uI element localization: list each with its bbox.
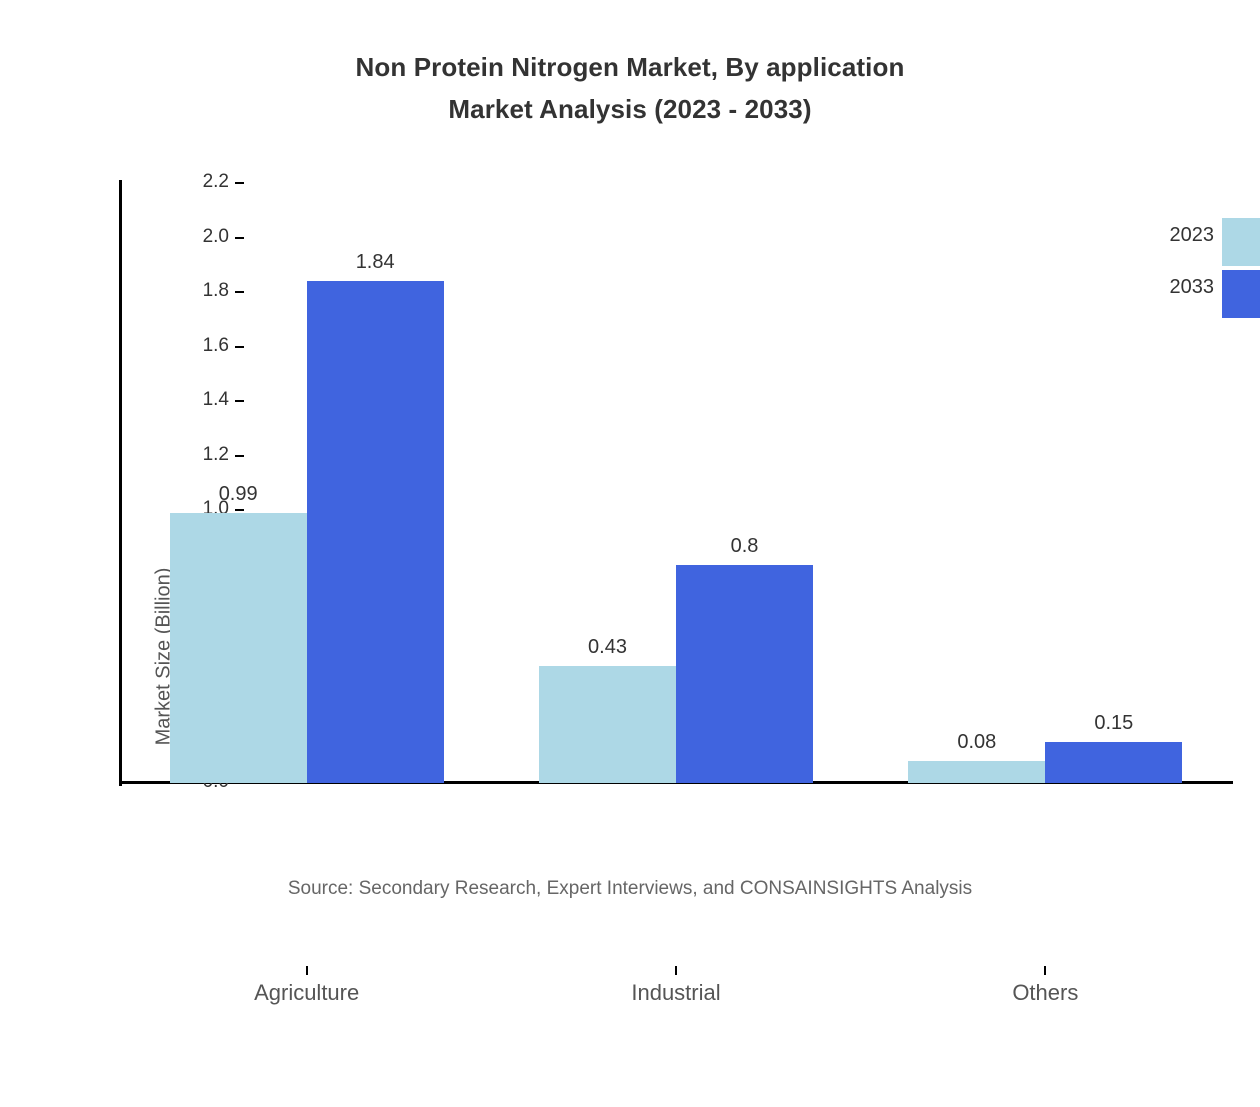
y-tick-label: 1.2 [203,444,229,466]
legend-label: 2033 [1100,276,1214,299]
legend-color-swatch [1222,218,1260,266]
y-tick-mark [235,455,244,457]
bar-industrial-2033[interactable]: 0.8 [676,565,813,783]
y-tick-mark [235,291,244,293]
bar-value-label: 0.08 [957,731,996,754]
y-tick-mark [235,509,244,511]
y-tick-mark [235,400,244,402]
bar-value-label: 0.8 [731,535,759,558]
bar-value-label: 1.84 [356,251,395,274]
y-tick-mark [235,237,244,239]
y-tick-label: 1.6 [203,335,229,357]
legend-item-2023[interactable]: 2023 [1100,218,1260,276]
bar-agriculture-2033[interactable]: 1.84 [307,281,444,783]
bar-value-label: 0.15 [1094,712,1133,735]
bar-others-2023[interactable]: 0.08 [908,761,1045,783]
y-tick-label: 1.8 [203,280,229,302]
bar-industrial-2023[interactable]: 0.43 [539,666,676,783]
x-tick-label: Agriculture [157,980,457,1006]
chart-title-line-2: Market Analysis (2023 - 2033) [0,88,1260,130]
x-tick-label: Industrial [526,980,826,1006]
bar-others-2033[interactable]: 0.15 [1045,742,1182,783]
bar-value-label: 0.99 [219,483,258,506]
legend-item-2033[interactable]: 2033 [1100,270,1260,328]
source-note: Source: Secondary Research, Expert Inter… [0,878,1260,900]
bar-chart-figure: Non Protein Nitrogen Market, By applicat… [0,0,1260,920]
y-tick-mark [235,346,244,348]
y-tick-label: 1.4 [203,389,229,411]
legend-label: 2023 [1100,224,1214,247]
bar-value-label: 0.43 [588,636,627,659]
y-tick-label: 2.2 [203,171,229,193]
y-tick-mark [235,182,244,184]
chart-title: Non Protein Nitrogen Market, By applicat… [0,46,1260,130]
y-tick-label: 2.0 [203,226,229,248]
legend-color-swatch [1222,270,1260,318]
x-tick-label: Others [895,980,1195,1006]
bar-agriculture-2023[interactable]: 0.99 [170,513,307,783]
x-tick-mark [675,966,677,975]
chart-title-line-1: Non Protein Nitrogen Market, By applicat… [356,52,905,82]
x-tick-mark [1044,966,1046,975]
plot-area: Market Size (Billion) 0.00.20.40.60.81.0… [122,183,1230,783]
x-tick-mark [306,966,308,975]
